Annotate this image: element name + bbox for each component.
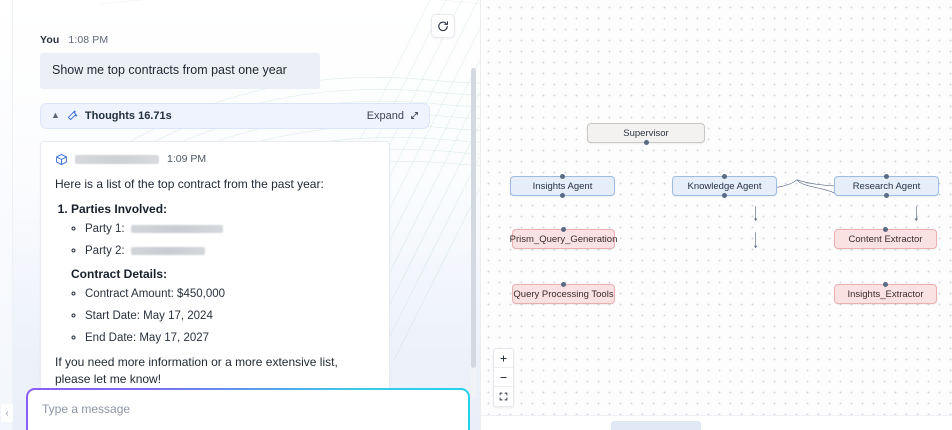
graph-zoom-controls [493,348,514,407]
user-message-meta: You 1:08 PM [40,34,320,46]
graph-node-insights-agent[interactable]: Insights Agent [510,176,615,196]
chat-scrollbar-thumb[interactable] [471,68,476,368]
user-message-time: 1:08 PM [68,34,108,46]
chevron-left-icon: ‹ [5,408,8,419]
party-1-label: Party 1: [85,223,125,235]
sparkle-wand-icon [67,110,78,121]
graph-node-research-agent[interactable]: Research Agent [834,176,939,196]
node-handle-top[interactable] [884,174,889,179]
contract-details-list: Contract Amount: $450,000 Start Date: Ma… [85,288,375,345]
user-message-text: Show me top contracts from past one year [40,53,320,89]
chat-panel: ‹ You 1:08 PM Show me top contracts from… [0,0,480,430]
node-handle-top[interactable] [883,227,888,232]
party-2-label: Party 2: [85,245,125,257]
message-input-placeholder: Type a message [42,402,130,416]
refresh-button[interactable] [431,14,455,38]
node-handle-bottom[interactable] [644,140,649,145]
graph-node-knowledge-agent[interactable]: Knowledge Agent [672,176,777,196]
parties-list: Party 1: Party 2: [85,223,375,259]
composer-area: Type a message [12,388,480,430]
chevron-up-icon: ▲ [51,111,60,120]
user-message-sender: You [40,34,59,46]
node-handle-top[interactable] [561,282,566,287]
zoom-in-button[interactable] [494,349,513,368]
list-item: Parties Involved: Party 1: Party 2: [71,202,375,346]
node-handle-top[interactable] [883,282,888,287]
graph-node-label: Prism_Query_Generation [510,234,618,245]
assistant-message-meta: 1:09 PM [55,153,375,166]
graph-node-prism-query-generation[interactable]: Prism_Query_Generation [512,229,615,249]
assistant-message-time: 1:09 PM [167,153,206,165]
list-item: Contract Amount: $450,000 [85,288,375,302]
node-handle-top[interactable] [722,174,727,179]
section-heading: Parties Involved: [71,202,167,216]
graph-node-label: Query Processing Tools [513,289,613,300]
assistant-message-card: 1:09 PM Here is a list of the top contra… [40,141,390,403]
refresh-icon [437,20,449,32]
party-2-value-redacted [131,247,205,255]
graph-edges [481,0,952,430]
graph-node-label: Content Extractor [849,234,923,245]
fit-view-button[interactable] [494,387,513,406]
graph-node-label: Supervisor [623,128,668,139]
node-handle-bottom[interactable] [884,193,889,198]
node-handle-top[interactable] [560,174,565,179]
fit-view-icon [499,392,508,401]
contract-details-heading: Contract Details: [71,267,375,281]
assistant-intro-text: Here is a list of the top contract from … [55,175,375,193]
graph-node-label: Knowledge Agent [688,181,762,192]
thoughts-label: Thoughts 16.71s [85,110,172,122]
graph-node-content-extractor[interactable]: Content Extractor [834,229,937,249]
thoughts-toggle[interactable]: ▲ Thoughts 16.71s Expand [40,103,430,129]
graph-node-label: Research Agent [853,181,921,192]
list-item: End Date: May 17, 2027 [85,332,375,346]
assistant-closing-text: If you need more information or a more e… [55,354,375,389]
graph-node-label: Insights_Extractor [847,289,923,300]
app-root: ‹ You 1:08 PM Show me top contracts from… [0,0,952,430]
assistant-ordered-list: Parties Involved: Party 1: Party 2: [71,202,375,346]
minus-icon [499,373,508,382]
node-handle-top[interactable] [561,227,566,232]
graph-bottom-chip [611,421,701,430]
agent-graph-panel[interactable]: Supervisor Insights Agent Knowledge Agen… [480,0,952,430]
list-item: Party 1: [85,223,375,237]
message-input[interactable]: Type a message [28,390,468,430]
graph-node-query-processing-tools[interactable]: Query Processing Tools [512,284,615,304]
assistant-name-redacted [75,155,159,164]
graph-bottom-strip [481,415,952,430]
graph-node-insights-extractor[interactable]: Insights_Extractor [834,284,937,304]
chat-scroll-area[interactable]: You 1:08 PM Show me top contracts from p… [12,0,480,430]
user-message: You 1:08 PM Show me top contracts from p… [40,34,320,89]
party-1-value-redacted [131,225,223,233]
zoom-out-button[interactable] [494,368,513,387]
plus-icon [499,354,508,363]
expand-diagonal-icon[interactable] [410,111,419,120]
cube-logo-icon [55,153,68,166]
list-item: Start Date: May 17, 2024 [85,310,375,324]
expand-label: Expand [367,110,404,122]
list-item: Party 2: [85,245,375,259]
message-input-frame: Type a message [26,388,470,430]
graph-node-supervisor[interactable]: Supervisor [587,123,705,143]
node-handle-bottom[interactable] [560,193,565,198]
left-rail [0,0,13,430]
chat-scrollbar[interactable] [471,68,476,398]
node-handle-bottom[interactable] [722,193,727,198]
graph-node-label: Insights Agent [533,181,593,192]
